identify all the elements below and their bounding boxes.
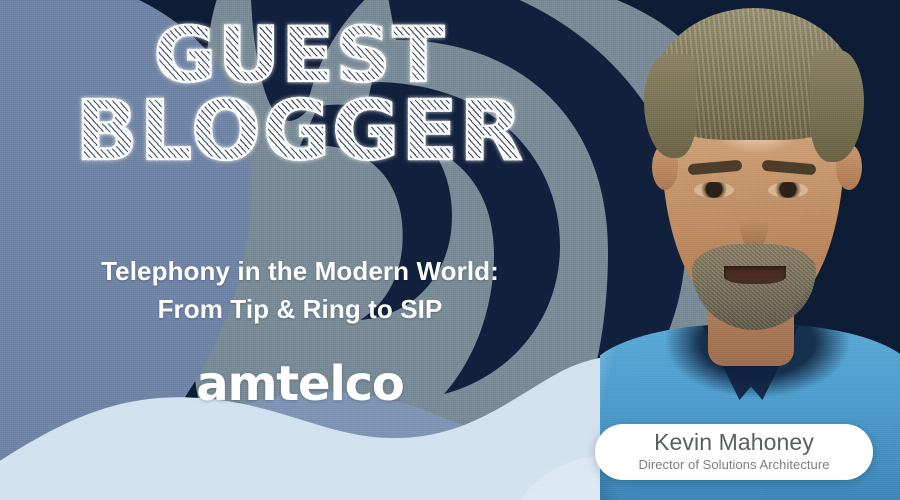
headline-block: GUEST BLOGGER xyxy=(0,20,600,169)
eye-left xyxy=(694,182,734,198)
speaker-name: Kevin Mahoney xyxy=(654,430,814,454)
hair xyxy=(650,8,858,140)
mouth xyxy=(724,266,786,284)
speaker-title: Director of Solutions Architecture xyxy=(638,456,829,474)
nose xyxy=(740,200,768,250)
guest-blogger-banner: GUEST BLOGGER Telephony in the Modern Wo… xyxy=(0,0,900,500)
subtitle-line-1: Telephony in the Modern World: xyxy=(0,252,600,290)
eye-right xyxy=(768,182,808,198)
subtitle-line-2: From Tip & Ring to SIP xyxy=(0,290,600,328)
headline-line-1: GUEST xyxy=(0,20,600,90)
amtelco-logo: amtelco xyxy=(0,356,600,412)
speaker-name-card: Kevin Mahoney Director of Solutions Arch… xyxy=(595,424,873,480)
subtitle-block: Telephony in the Modern World: From Tip … xyxy=(0,252,600,328)
headline-line-2: BLOGGER xyxy=(0,94,600,169)
